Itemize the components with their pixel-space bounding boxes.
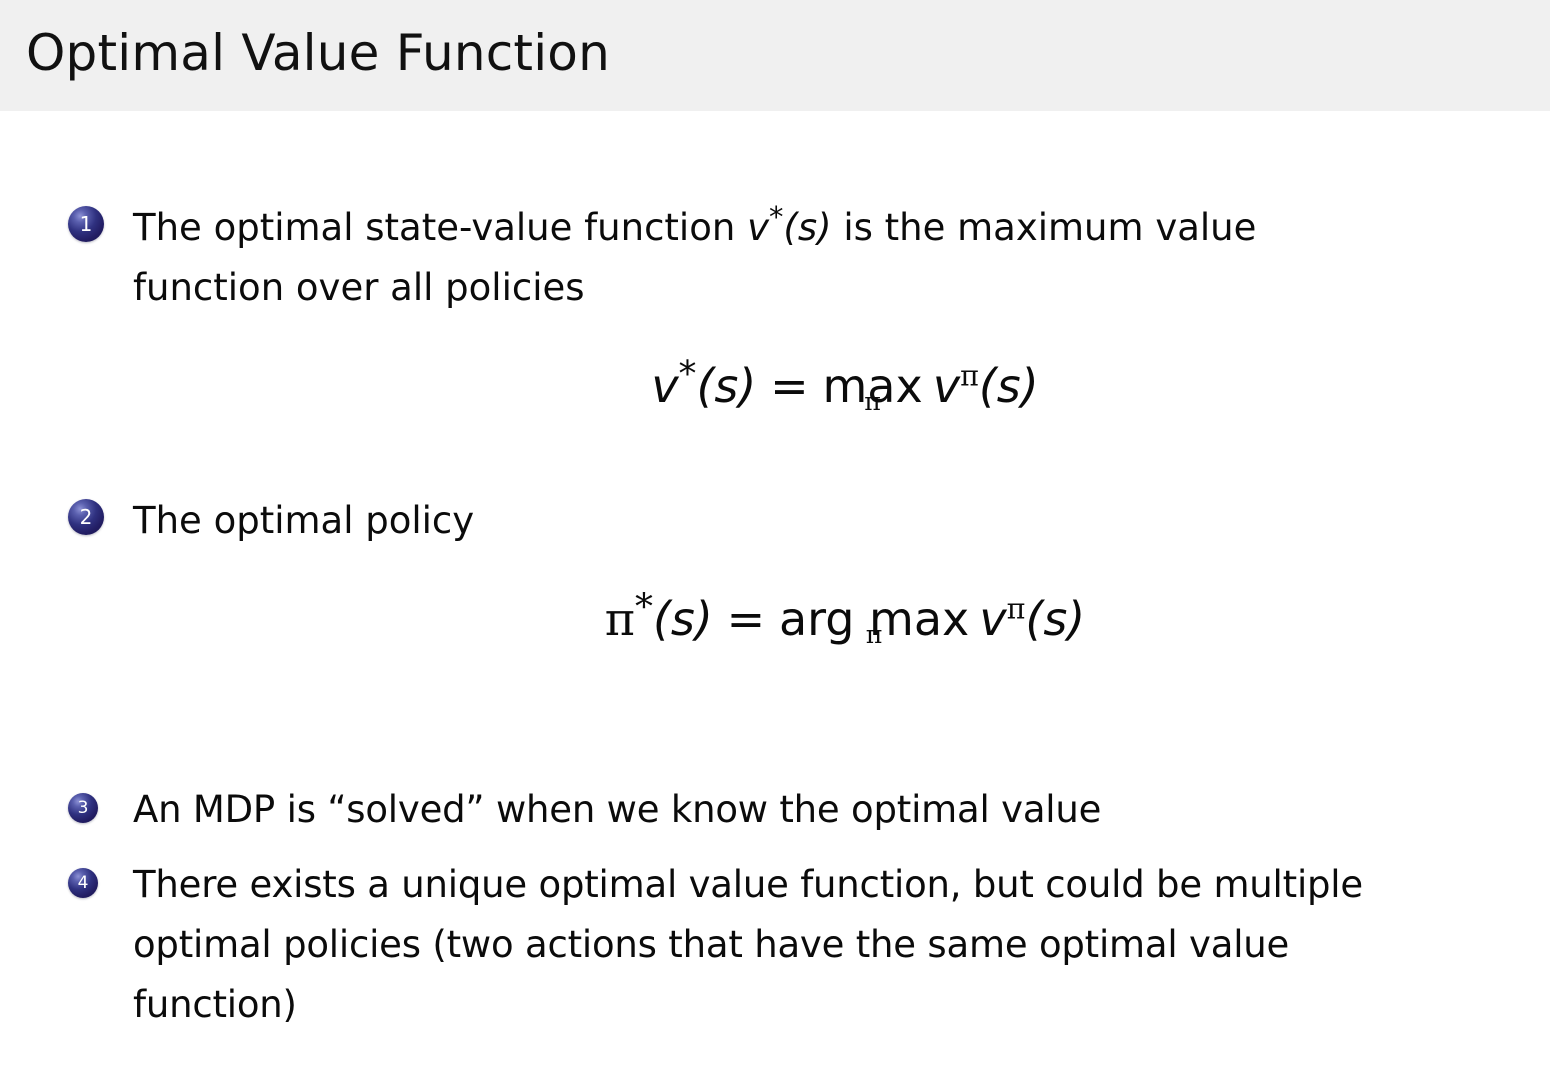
- eq1-rhs-var: v: [933, 359, 960, 413]
- equation-1-content: v*(s)=maxπvπ(s): [651, 363, 1038, 409]
- bullet-1-line2: function over all policies: [133, 266, 585, 309]
- bullet-4-line2: optimal policies (two actions that have …: [133, 923, 1289, 966]
- eq2-lhs-star: *: [635, 587, 653, 628]
- slide-header-band: Optimal Value Function: [0, 0, 1550, 111]
- eq2-lhs-var: π: [605, 592, 635, 646]
- slide-body: 1 The optimal state-value function v*(s)…: [0, 111, 1550, 1080]
- list-item-text-1: The optimal state-value function v*(s) i…: [133, 198, 1493, 318]
- list-item-text-2: The optimal policy: [133, 491, 1493, 551]
- eq2-relation: =: [727, 592, 766, 646]
- eq1-lhs-star: *: [679, 354, 697, 395]
- eq1-lhs-var: v: [651, 359, 678, 413]
- list-item-text-3: An MDP is “solved” when we know the opti…: [133, 780, 1523, 840]
- inline-math-arg: (s): [783, 206, 831, 249]
- eq1-operator: maxπ: [822, 363, 922, 409]
- eq2-rhs-var: v: [979, 592, 1006, 646]
- inline-math-star: *: [769, 200, 783, 234]
- bullet-number-badge-4: 4: [68, 868, 98, 898]
- page-title: Optimal Value Function: [26, 20, 610, 86]
- bullet-1-line1-part-b: is the maximum value: [832, 206, 1257, 249]
- eq1-relation: =: [770, 359, 809, 413]
- eq2-rhs-sup: π: [1007, 593, 1026, 626]
- bullet-4-line3: function): [133, 983, 297, 1026]
- bullet-4-line1: There exists a unique optimal value func…: [133, 863, 1363, 906]
- eq2-lhs-arg: (s): [653, 592, 713, 646]
- list-item-text-4: There exists a unique optimal value func…: [133, 855, 1550, 1035]
- equation-2-content: π*(s)=arg maxπvπ(s): [605, 596, 1085, 642]
- eq1-lhs-arg: (s): [696, 359, 756, 413]
- optimal-value-equation: v*(s)=maxπvπ(s): [0, 363, 1550, 409]
- bullet-number-badge-1: 1: [68, 206, 104, 242]
- eq1-operator-limit: π: [822, 389, 922, 414]
- optimal-policy-equation: π*(s)=arg maxπvπ(s): [0, 596, 1550, 642]
- inline-math-v: v: [747, 206, 769, 249]
- bullet-3-line1: An MDP is “solved” when we know the opti…: [133, 788, 1101, 831]
- eq1-rhs-arg: (s): [979, 359, 1039, 413]
- bullet-2-line1: The optimal policy: [133, 499, 474, 542]
- bullet-1-line1-part-a: The optimal state-value function: [133, 206, 747, 249]
- bullet-number-badge-2: 2: [68, 499, 104, 535]
- bullet-number-badge-3: 3: [68, 793, 98, 823]
- eq2-operator-limit: π: [779, 622, 969, 647]
- eq1-rhs-sup: π: [960, 360, 979, 393]
- eq2-operator: arg maxπ: [779, 596, 969, 642]
- eq2-rhs-arg: (s): [1025, 592, 1085, 646]
